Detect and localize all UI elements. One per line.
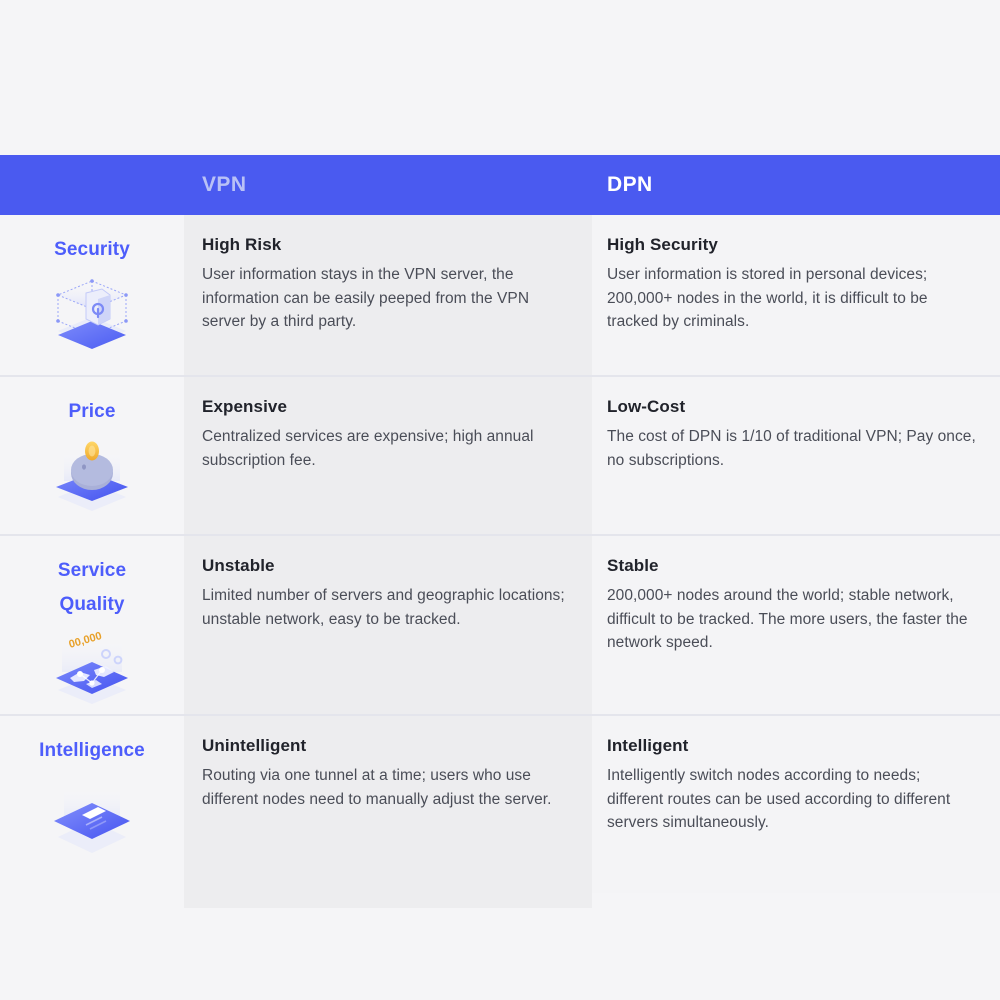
header-cell-label — [0, 155, 184, 215]
cell-body: Centralized services are expensive; high… — [202, 425, 572, 472]
cell-heading: Low-Cost — [607, 397, 978, 417]
table-row: Service Quality — [0, 536, 1000, 716]
table-header-row: VPN DPN — [0, 155, 1000, 215]
cell-heading: Stable — [607, 556, 978, 576]
cell-body: Limited number of servers and geographic… — [202, 584, 572, 631]
cell-heading: Expensive — [202, 397, 572, 417]
cell-heading: Unstable — [202, 556, 572, 576]
cell-vpn-intelligence: Unintelligent Routing via one tunnel at … — [184, 716, 592, 893]
row-title-intelligence: Intelligence — [39, 734, 145, 768]
cell-dpn-price: Low-Cost The cost of DPN is 1/10 of trad… — [592, 377, 1000, 534]
cell-heading: High Risk — [202, 235, 572, 255]
cell-body: User information is stored in personal d… — [607, 263, 978, 334]
cell-body: Intelligently switch nodes according to … — [607, 764, 978, 835]
service-quality-network-icon: 00,000 — [40, 628, 144, 714]
comparison-page: VPN DPN Security — [0, 0, 1000, 1000]
cell-vpn-price: Expensive Centralized services are expen… — [184, 377, 592, 534]
cell-heading: High Security — [607, 235, 978, 255]
cell-body: 200,000+ nodes around the world; stable … — [607, 584, 978, 655]
row-label-cell-service-quality: Service Quality — [0, 536, 184, 714]
cell-vpn-service-quality: Unstable Limited number of servers and g… — [184, 536, 592, 714]
header-cell-dpn: DPN — [592, 155, 1000, 215]
row-title-price: Price — [69, 395, 116, 429]
cell-heading: Unintelligent — [202, 736, 572, 756]
header-label-vpn: VPN — [202, 173, 246, 197]
header-label-dpn: DPN — [607, 173, 653, 197]
cell-vpn-security: High Risk User information stays in the … — [184, 215, 592, 375]
table-row: Intelligence — [0, 716, 1000, 893]
row-label-cell-intelligence: Intelligence — [0, 716, 184, 893]
row-label-cell-price: Price — [0, 377, 184, 534]
table-row: Price — [0, 377, 1000, 536]
cell-body: The cost of DPN is 1/10 of traditional V… — [607, 425, 978, 472]
cell-dpn-service-quality: Stable 200,000+ nodes around the world; … — [592, 536, 1000, 714]
header-cell-vpn: VPN — [184, 155, 592, 215]
cell-body: User information stays in the VPN server… — [202, 263, 572, 334]
row-title-line-2: Quality — [59, 594, 124, 615]
table-row: Security — [0, 215, 1000, 377]
vpn-dpn-comparison-table: VPN DPN Security — [0, 155, 1000, 893]
cell-body: Routing via one tunnel at a time; users … — [202, 764, 572, 811]
cell-dpn-intelligence: Intelligent Intelligently switch nodes a… — [592, 716, 1000, 893]
cell-heading: Intelligent — [607, 736, 978, 756]
intelligence-card-icon — [40, 775, 144, 861]
row-label-cell-security: Security — [0, 215, 184, 375]
cell-dpn-security: High Security User information is stored… — [592, 215, 1000, 375]
row-title-line-1: Service — [58, 560, 126, 581]
price-piggybank-icon — [40, 435, 144, 521]
row-title-service-quality: Service Quality — [58, 554, 126, 622]
row-title-security: Security — [54, 233, 130, 267]
security-cube-icon — [40, 273, 144, 359]
